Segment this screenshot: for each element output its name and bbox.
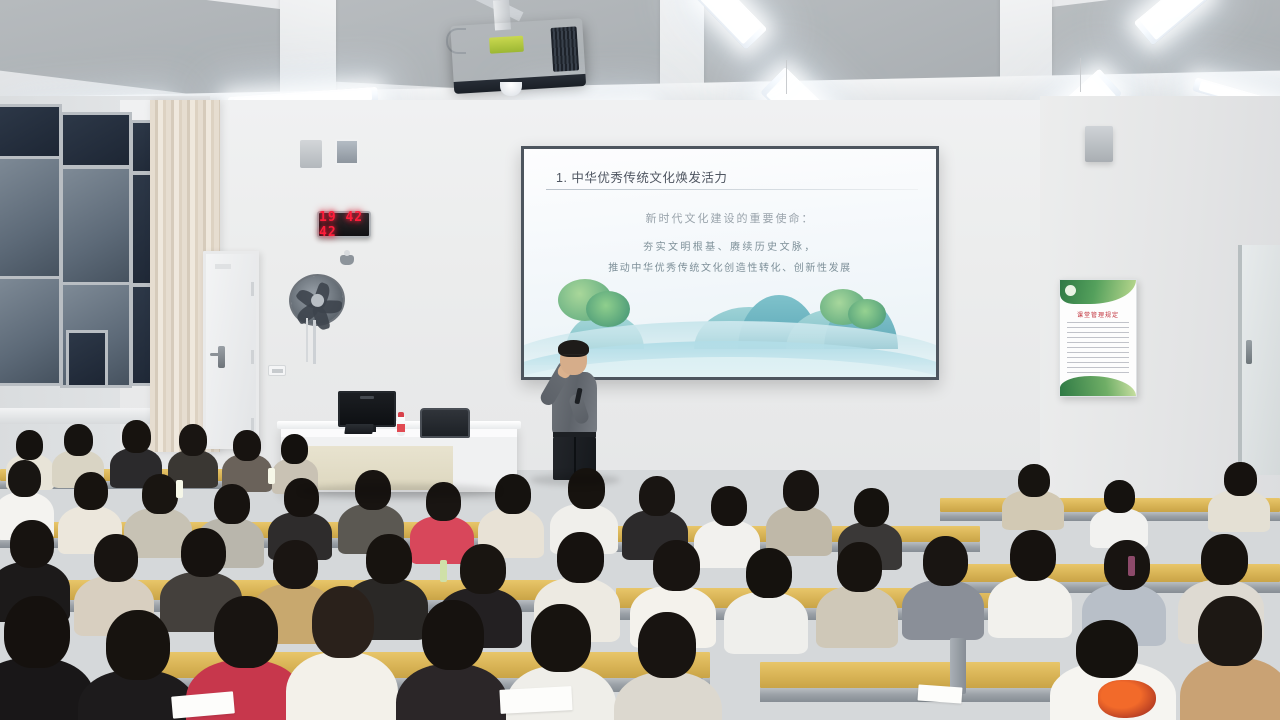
student bbox=[286, 586, 398, 720]
door-hinge bbox=[251, 350, 254, 364]
student-head bbox=[837, 542, 882, 592]
ceiling-projector bbox=[450, 18, 586, 88]
student-head bbox=[923, 536, 968, 586]
water-bottle-small bbox=[268, 468, 275, 484]
slide-body-line-1: 夯实文明根基、赓续历史文脉， bbox=[524, 238, 936, 253]
light-stem bbox=[786, 60, 787, 94]
student bbox=[766, 470, 832, 548]
student-head bbox=[8, 460, 41, 497]
student-head bbox=[1198, 596, 1262, 666]
student-head bbox=[10, 520, 54, 568]
student bbox=[1002, 464, 1064, 518]
lecturer bbox=[531, 338, 617, 480]
student-head bbox=[422, 600, 484, 670]
student-head bbox=[64, 424, 93, 456]
student-head bbox=[639, 476, 675, 516]
student-head bbox=[495, 474, 531, 514]
student-body bbox=[1180, 658, 1280, 720]
fan-arm bbox=[313, 320, 316, 364]
student-head bbox=[711, 486, 747, 526]
student-head bbox=[557, 532, 604, 583]
student bbox=[816, 542, 898, 636]
light-stem bbox=[1080, 58, 1081, 92]
notebook bbox=[499, 686, 572, 714]
student-head bbox=[179, 424, 207, 456]
notebook bbox=[917, 684, 962, 703]
student-body bbox=[396, 664, 508, 720]
window-pane bbox=[0, 156, 62, 280]
student-body bbox=[286, 652, 398, 720]
window-vent bbox=[66, 330, 108, 388]
tree bbox=[848, 299, 886, 329]
window-pane bbox=[60, 112, 132, 168]
student bbox=[396, 600, 508, 720]
lecturer-belt bbox=[553, 432, 596, 437]
fan-guard bbox=[286, 270, 349, 329]
lectern-monitor bbox=[338, 391, 396, 427]
wall-led-clock: 19 42 42 bbox=[317, 211, 371, 238]
student-head bbox=[4, 596, 70, 668]
student-head bbox=[531, 604, 591, 672]
student-head bbox=[854, 488, 889, 527]
water-bottle-small bbox=[440, 560, 447, 582]
student-body bbox=[724, 592, 808, 654]
window-pane bbox=[0, 104, 62, 160]
student-body bbox=[1208, 490, 1270, 532]
ceiling-coffer bbox=[0, 0, 290, 106]
water-bottle-small bbox=[176, 480, 183, 498]
poster-footer-band bbox=[1060, 376, 1136, 396]
window-pane bbox=[0, 276, 62, 386]
student-head bbox=[1201, 534, 1248, 585]
wall-outlet bbox=[268, 365, 286, 376]
student-body bbox=[902, 580, 984, 640]
shirt-graphic-print bbox=[1098, 680, 1156, 718]
student-head bbox=[1224, 462, 1257, 496]
wall-notice-poster: 课堂管理规定 bbox=[1059, 279, 1137, 397]
wall-mounted-fan bbox=[289, 274, 345, 326]
floor-shadow bbox=[530, 474, 620, 486]
water-bottle bbox=[397, 416, 405, 436]
student-head bbox=[233, 430, 261, 461]
tree bbox=[586, 291, 630, 327]
student-head bbox=[74, 472, 108, 510]
classroom-door-left[interactable] bbox=[203, 251, 259, 449]
student-head bbox=[312, 586, 374, 658]
student bbox=[1208, 462, 1270, 520]
student-head bbox=[284, 478, 319, 517]
clock-digits: 19 42 42 bbox=[319, 210, 369, 240]
slide-subtitle: 新时代文化建设的重要使命： bbox=[524, 210, 936, 226]
student-head bbox=[783, 470, 819, 511]
wall-speaker-right bbox=[1085, 126, 1113, 162]
poster-title: 课堂管理规定 bbox=[1060, 310, 1136, 319]
door-plate bbox=[215, 264, 231, 269]
student-body bbox=[816, 586, 898, 648]
window-pane bbox=[60, 166, 132, 286]
student-head bbox=[181, 528, 226, 577]
poster-logo bbox=[1065, 285, 1076, 296]
ceiling-camera bbox=[340, 255, 354, 265]
monitor-logo bbox=[360, 396, 374, 399]
student-head bbox=[106, 610, 170, 680]
desk-leg bbox=[950, 638, 966, 694]
slide-divider bbox=[546, 189, 918, 190]
student-head bbox=[214, 484, 250, 524]
poster-body-text bbox=[1067, 322, 1129, 374]
floor-shadow bbox=[300, 484, 500, 498]
student-head bbox=[1076, 620, 1138, 678]
student-head bbox=[638, 612, 696, 678]
fan-cord bbox=[306, 318, 308, 362]
student bbox=[1180, 596, 1280, 720]
projector-vent bbox=[551, 26, 580, 72]
student-head bbox=[653, 540, 700, 591]
bottle-label bbox=[397, 424, 405, 432]
lectern-chair bbox=[420, 408, 470, 438]
lecturer-glasses bbox=[562, 354, 585, 359]
student bbox=[614, 612, 722, 720]
student-head bbox=[214, 596, 278, 668]
classroom-door-right[interactable] bbox=[1238, 245, 1280, 475]
student bbox=[1082, 540, 1166, 632]
student-head bbox=[142, 474, 178, 514]
student-head bbox=[1104, 540, 1150, 590]
student-body bbox=[614, 672, 722, 720]
door-handle[interactable] bbox=[1246, 340, 1252, 364]
student-head bbox=[460, 544, 506, 594]
wall-speaker-left bbox=[300, 140, 322, 168]
student bbox=[902, 536, 984, 628]
student bbox=[1050, 620, 1176, 720]
student-head bbox=[746, 548, 792, 598]
slide-body-line-2: 推动中华优秀传统文化创造性转化、创新性发展 bbox=[524, 259, 936, 274]
student-head bbox=[16, 430, 43, 460]
water-bottle-small bbox=[1128, 556, 1135, 576]
student-head bbox=[1018, 464, 1050, 497]
student-head bbox=[1104, 480, 1135, 513]
student-head bbox=[281, 434, 308, 464]
student-head bbox=[273, 540, 318, 589]
wall-vent bbox=[335, 139, 359, 165]
student-head bbox=[366, 534, 412, 584]
student bbox=[988, 530, 1072, 624]
student-head bbox=[122, 420, 151, 453]
lectern-keyboard[interactable] bbox=[344, 424, 373, 434]
bottle-cap bbox=[398, 412, 404, 417]
student-head bbox=[1010, 530, 1056, 581]
door-handle[interactable] bbox=[218, 346, 225, 368]
student bbox=[724, 548, 808, 640]
projector-label bbox=[489, 36, 524, 54]
lecture-hall-photo: 19 42 42 课堂管理规定 bbox=[0, 0, 1280, 720]
student bbox=[1090, 480, 1148, 536]
door-hinge bbox=[251, 282, 254, 296]
student bbox=[222, 430, 272, 488]
student-head bbox=[94, 534, 138, 582]
slide-title: 1. 中华优秀传统文化焕发活力 bbox=[556, 167, 727, 186]
